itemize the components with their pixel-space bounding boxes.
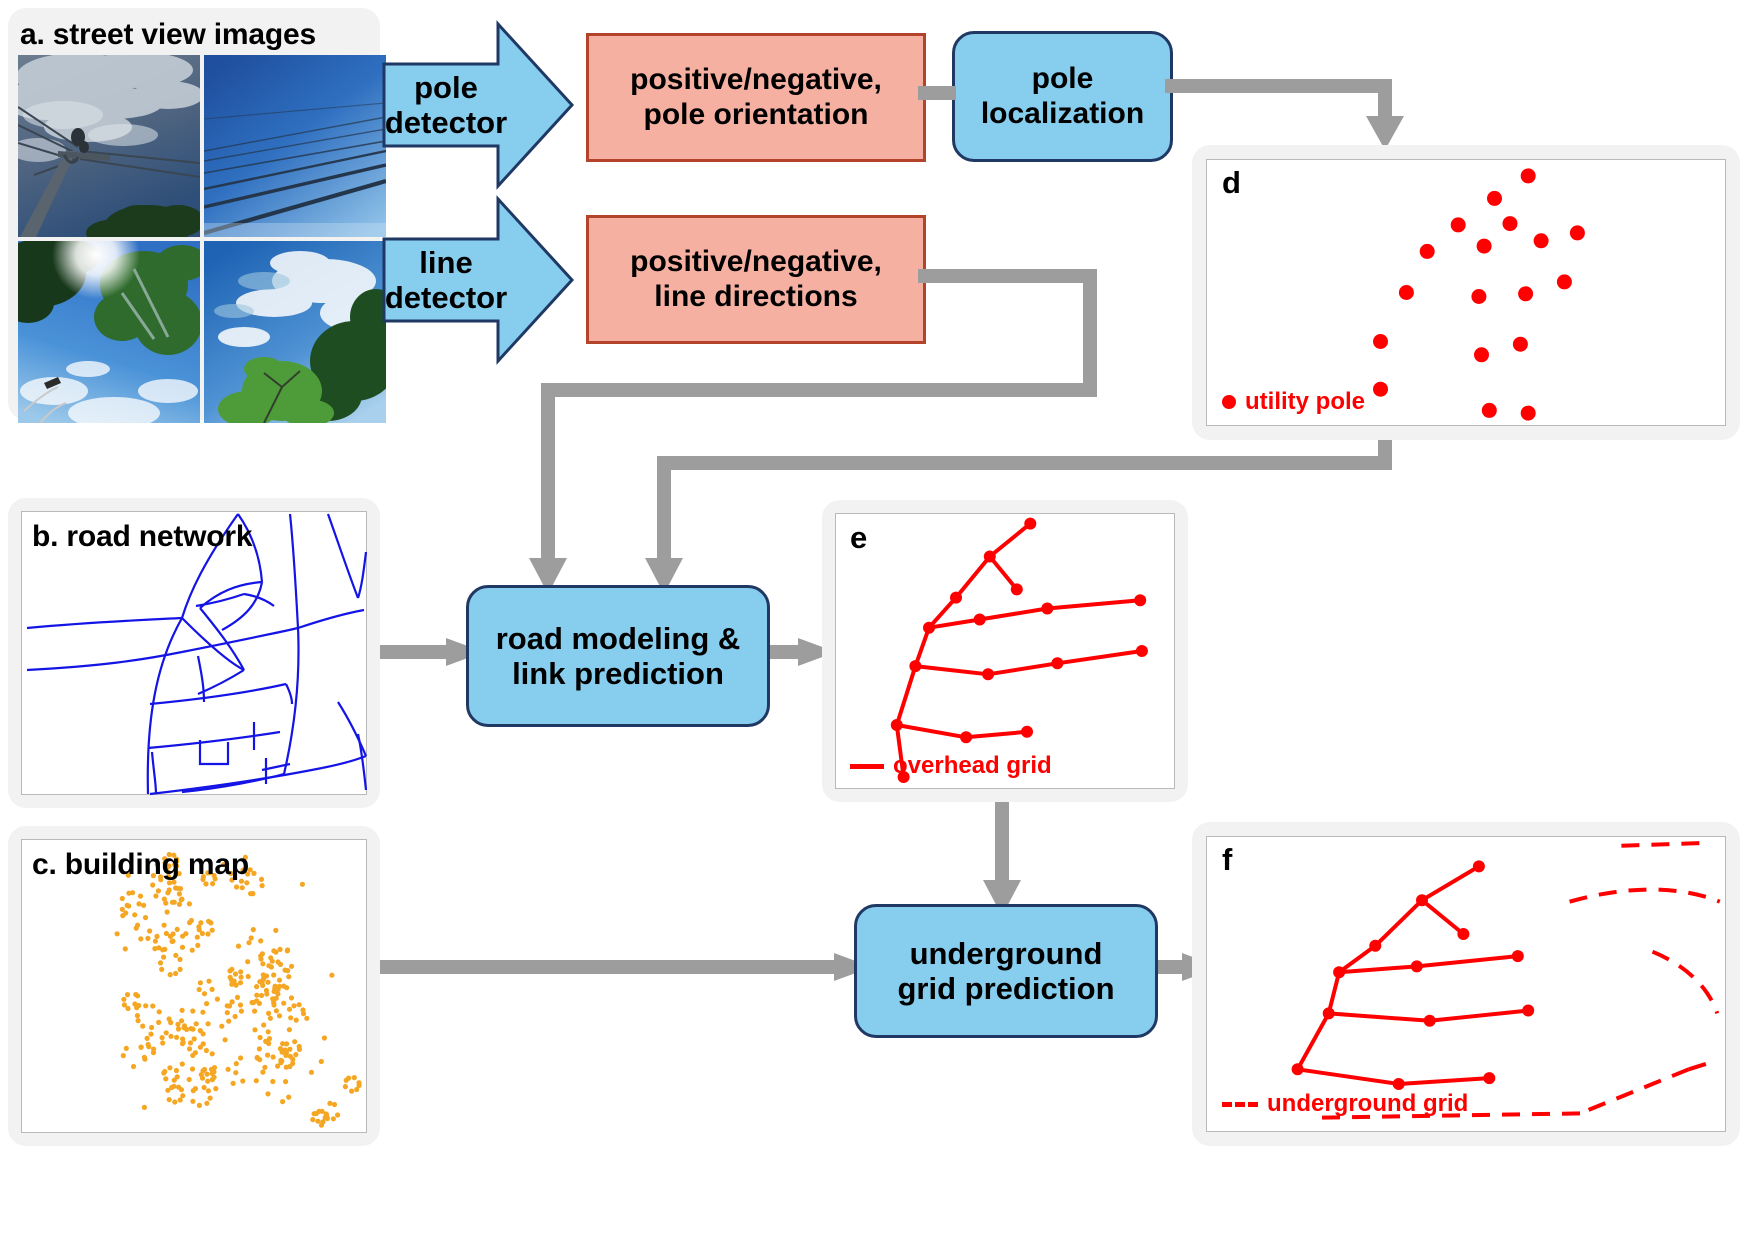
panel-f-plot <box>1206 836 1726 1132</box>
line-detector-arrow[interactable]: line detector <box>378 195 578 365</box>
panel-f-legend: underground grid <box>1222 1090 1468 1118</box>
underground-prediction-box[interactable]: underground grid prediction <box>854 904 1158 1038</box>
panel-f-letter: f <box>1222 842 1232 878</box>
panel-e-plot <box>835 513 1175 789</box>
panel-c-plot <box>21 839 367 1133</box>
panel-f-legend-label: underground grid <box>1267 1090 1468 1118</box>
street-view-photo-4 <box>204 241 386 423</box>
street-view-photo-3 <box>18 241 200 423</box>
panel-d-letter: d <box>1222 165 1241 201</box>
pole-detector-arrow[interactable]: pole detector <box>378 20 578 190</box>
panel-c-card: c. building map <box>8 826 380 1146</box>
panel-d-legend-label: utility pole <box>1245 388 1365 416</box>
panel-d-scatter <box>1207 160 1725 425</box>
pole-output-line2: pole orientation <box>644 98 869 131</box>
panel-a-title: a. street view images <box>20 18 316 52</box>
underground-grid-line-icon <box>1222 1102 1258 1107</box>
road-modeling-line2: link prediction <box>512 656 724 691</box>
panel-a-card: a. street view images <box>8 8 380 420</box>
pole-output-box[interactable]: positive/negative, pole orientation <box>586 33 926 162</box>
panel-b-card: b. road network <box>8 498 380 808</box>
underground-line1: underground <box>910 936 1103 971</box>
panel-c-title: c. building map <box>32 848 249 882</box>
pole-localization-line2: localization <box>981 97 1144 130</box>
pole-output-line1: positive/negative, <box>630 63 882 96</box>
underground-line2: grid prediction <box>898 971 1115 1006</box>
line-output-box[interactable]: positive/negative, line directions <box>586 215 926 344</box>
line-output-line2: line directions <box>654 280 857 313</box>
overhead-grid-chart <box>836 514 1174 788</box>
building-map <box>22 840 366 1132</box>
panel-d-plot <box>1206 159 1726 426</box>
panel-f-card: f underground grid <box>1192 822 1740 1146</box>
pole-localization-line1: pole <box>1032 62 1094 95</box>
panel-e-letter: e <box>850 520 867 556</box>
line-output-line1: positive/negative, <box>630 245 882 278</box>
street-view-photo-2 <box>204 55 386 237</box>
panel-e-legend-label: overhead grid <box>893 752 1052 780</box>
panel-b-title: b. road network <box>32 520 252 554</box>
utility-pole-marker-icon <box>1222 395 1236 409</box>
underground-grid-chart <box>1207 837 1725 1131</box>
panel-d-card: d utility pole <box>1192 145 1740 440</box>
street-view-photo-1 <box>18 55 200 237</box>
panel-e-card: e overhead grid <box>822 500 1188 802</box>
overhead-grid-line-icon <box>850 764 884 769</box>
road-modeling-line1: road modeling & <box>496 621 741 656</box>
panel-e-legend: overhead grid <box>850 752 1052 780</box>
panel-d-legend: utility pole <box>1222 388 1365 416</box>
road-network-map <box>22 512 366 794</box>
road-modeling-box[interactable]: road modeling & link prediction <box>466 585 770 727</box>
pole-localization-box[interactable]: pole localization <box>952 31 1173 162</box>
